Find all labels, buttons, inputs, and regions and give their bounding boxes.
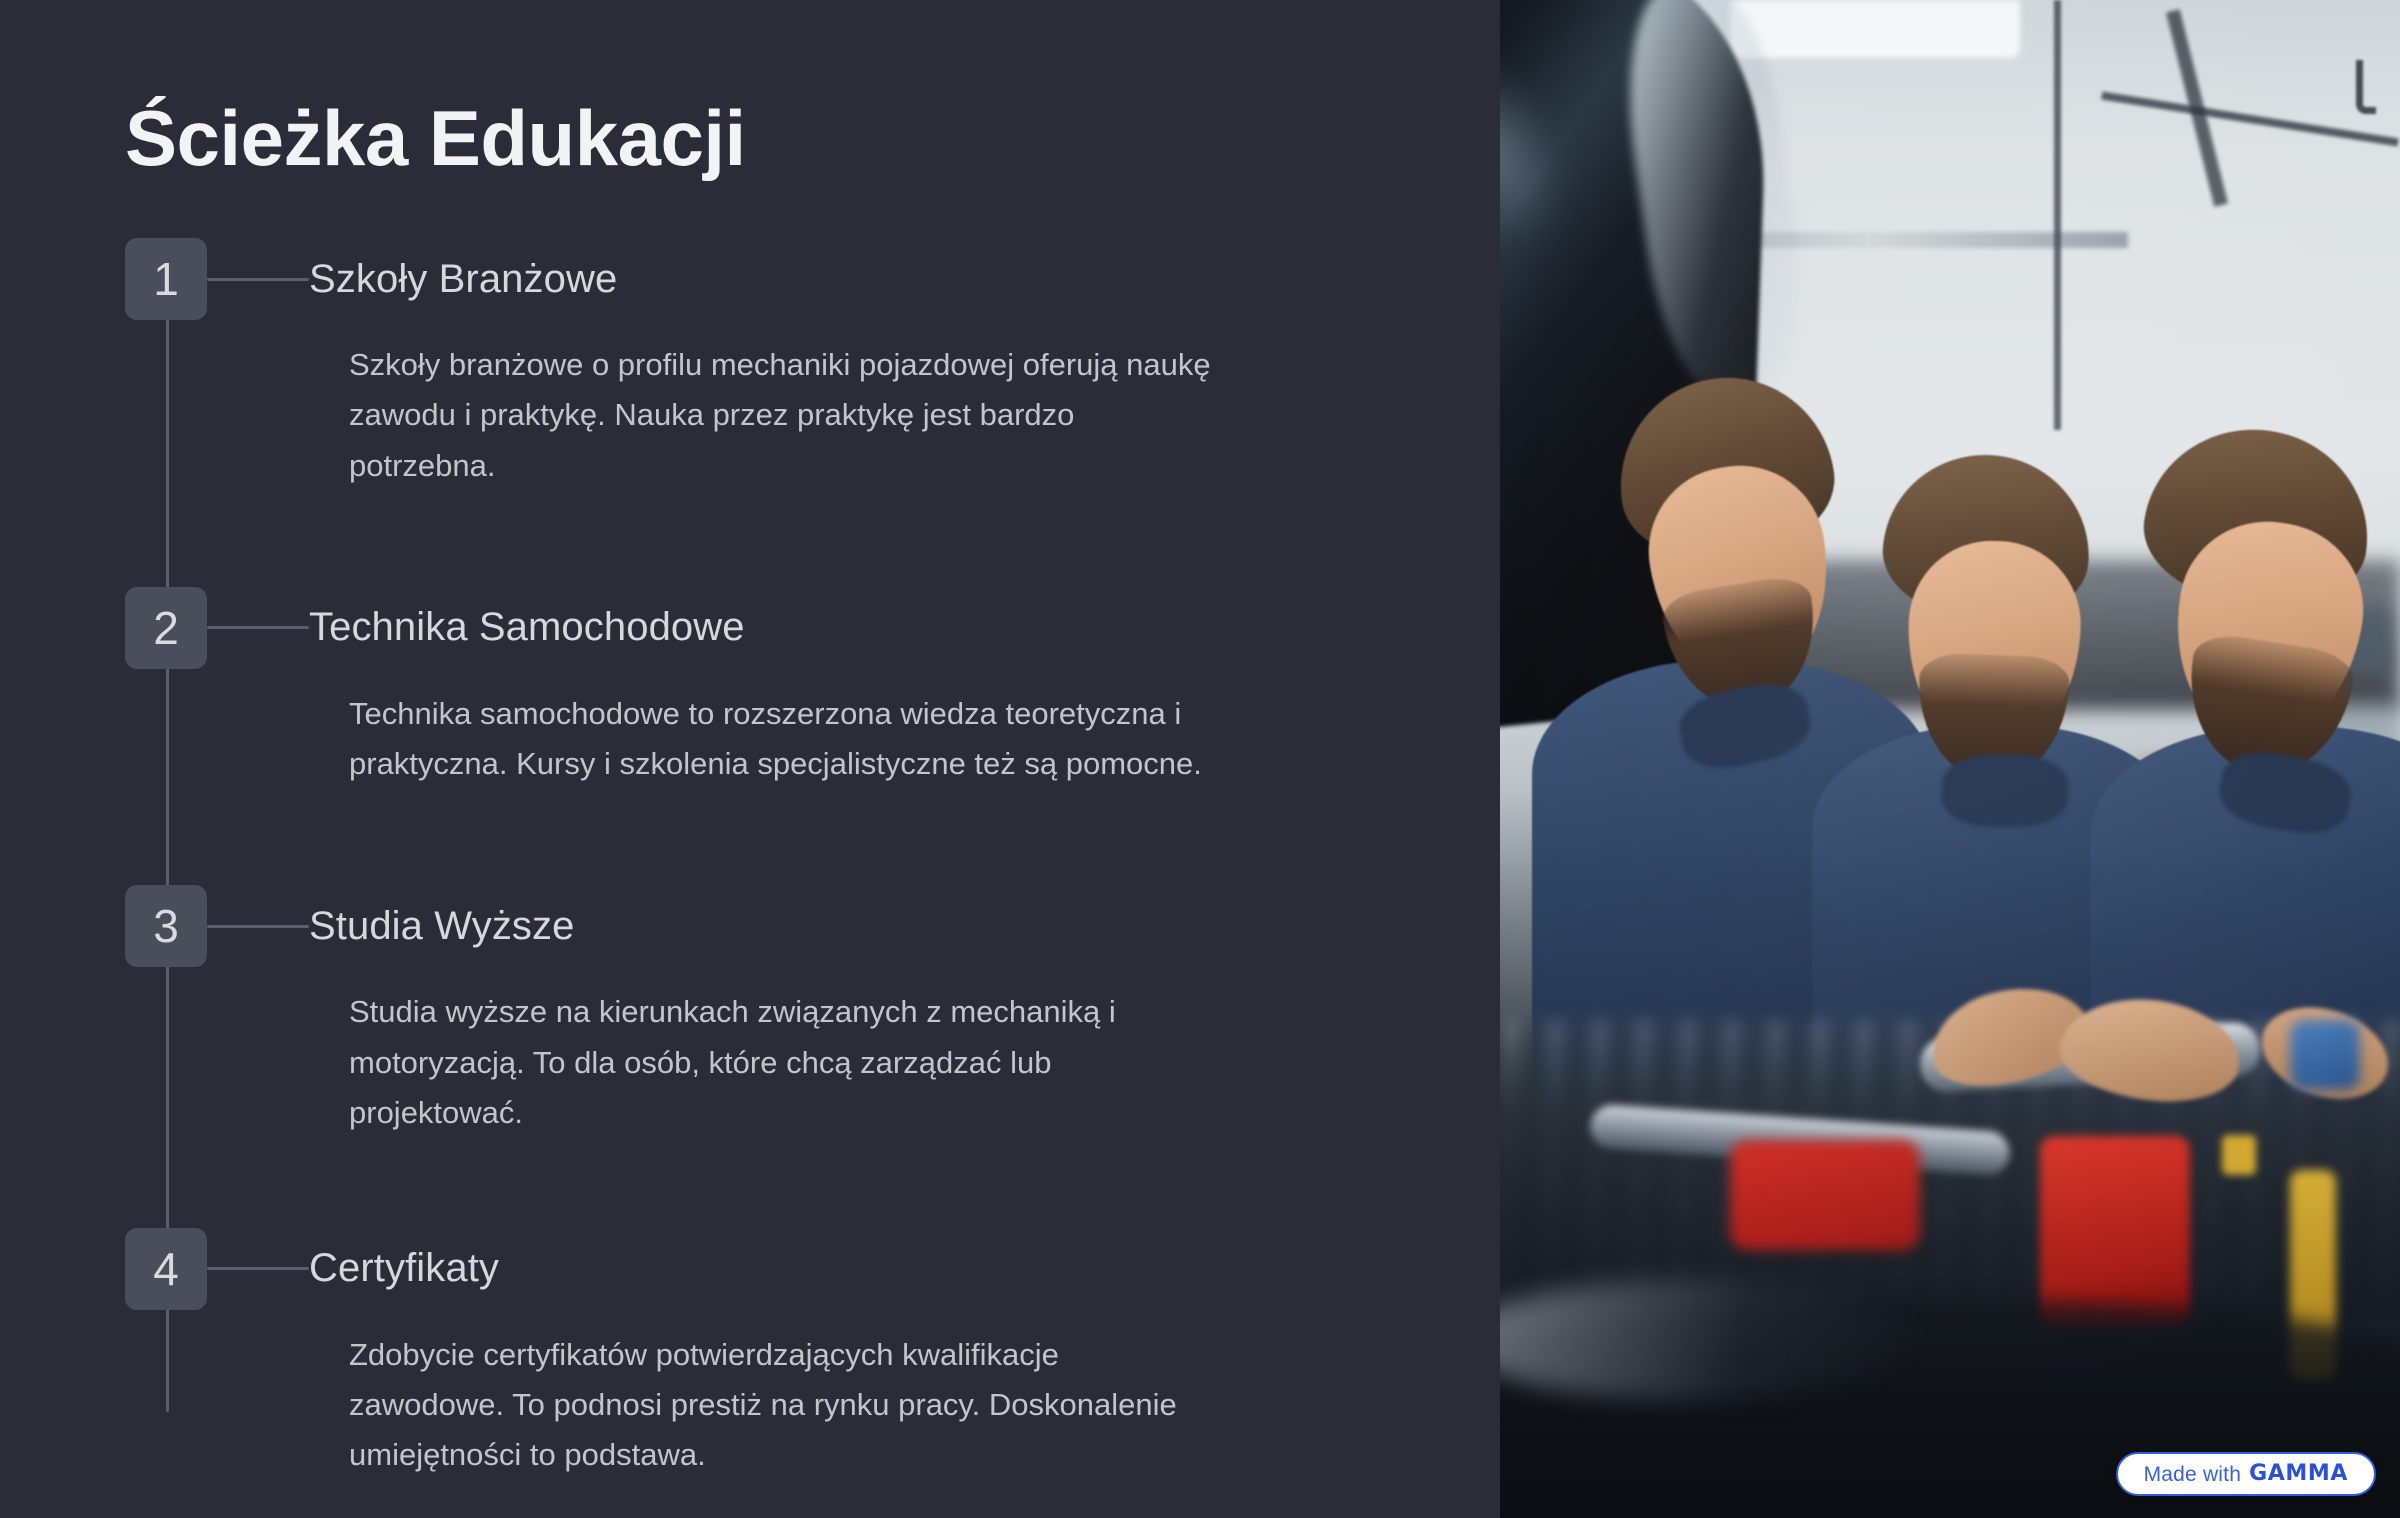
engine-blue-part (2290, 1020, 2360, 1090)
step-title: Technika Samochodowe (309, 605, 1500, 650)
workshop-mechanics-photo (1500, 0, 2400, 1518)
step-title: Szkoły Branżowe (309, 257, 1500, 302)
timeline-step-header: 1 Szkoły Branżowe (125, 238, 1500, 320)
timeline-step[interactable]: 4 Certyfikaty Zdobycie certyfikatów potw… (125, 1228, 1500, 1481)
step-description: Studia wyższe na kierunkach związanych z… (349, 967, 1379, 1138)
step-description: Szkoły branżowe o profilu mechaniki poja… (349, 320, 1379, 491)
gamma-wordmark: GAMMA (2249, 1463, 2348, 1485)
ceiling-hoist-hook (2356, 60, 2376, 114)
slide-root: Ścieżka Edukacji 1 Szkoły Branżowe Szkoł… (0, 0, 2400, 1518)
step-description: Technika samochodowe to rozszerzona wied… (349, 669, 1379, 789)
timeline-step-header: 3 Studia Wyższe (125, 885, 1500, 967)
engine-red-part (2040, 1136, 2190, 1326)
ceiling-light (1730, 0, 2020, 58)
step-number-badge: 1 (125, 238, 207, 320)
step-connector-line (207, 626, 309, 629)
timeline-step-header: 4 Certyfikaty (125, 1228, 1500, 1310)
step-number-badge: 4 (125, 1228, 207, 1310)
ceiling-beam-vertical (2054, 0, 2061, 430)
engine-yellow-part (2222, 1135, 2256, 1175)
step-title: Certyfikaty (309, 1246, 1500, 1291)
timeline-step[interactable]: 1 Szkoły Branżowe Szkoły branżowe o prof… (125, 238, 1500, 491)
made-with-gamma-badge[interactable]: Made with GAMMA (2116, 1452, 2376, 1496)
education-timeline: 1 Szkoły Branżowe Szkoły branżowe o prof… (125, 238, 1500, 1480)
step-description: Zdobycie certyfikatów potwierdzających k… (349, 1310, 1379, 1481)
step-connector-line (207, 278, 309, 281)
step-connector-line (207, 925, 309, 928)
made-with-label: Made with (2144, 1464, 2242, 1485)
step-title: Studia Wyższe (309, 904, 1500, 949)
photo-panel: Made with GAMMA (1500, 0, 2400, 1518)
page-title: Ścieżka Edukacji (125, 96, 1500, 180)
step-number-badge: 2 (125, 587, 207, 669)
timeline-step-header: 2 Technika Samochodowe (125, 587, 1500, 669)
step-number-badge: 3 (125, 885, 207, 967)
engine-red-part (1730, 1140, 1920, 1250)
timeline-step[interactable]: 2 Technika Samochodowe Technika samochod… (125, 587, 1500, 789)
step-connector-line (207, 1267, 309, 1270)
timeline-step[interactable]: 3 Studia Wyższe Studia wyższe na kierunk… (125, 885, 1500, 1138)
mechanic-collar (1942, 755, 2068, 827)
content-panel: Ścieżka Edukacji 1 Szkoły Branżowe Szkoł… (0, 0, 1500, 1518)
